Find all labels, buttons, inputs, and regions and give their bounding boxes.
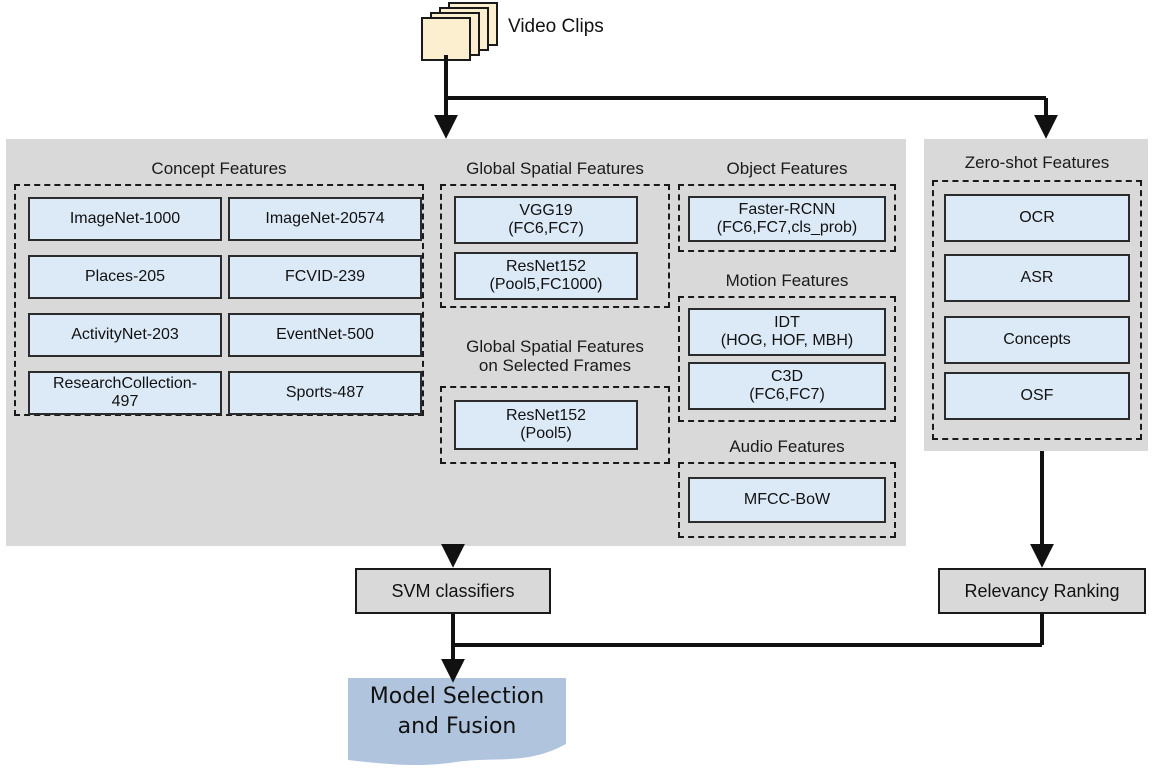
feature-label-line2: (FC6,FC7) <box>749 386 825 404</box>
feature-box-sports-487[interactable]: Sports-487 <box>228 371 422 415</box>
caption-line1: Global Spatial Features <box>466 337 644 356</box>
feature-box-faster-rcnn[interactable]: Faster-RCNN (FC6,FC7,cls_prob) <box>688 196 886 242</box>
feature-box-resnet152-pool5[interactable]: ResNet152 (Pool5) <box>454 400 638 450</box>
feature-label-line2: (HOG, HOF, MBH) <box>721 332 853 350</box>
feature-label-line2: (Pool5,FC1000) <box>490 276 603 294</box>
feature-label-line2: (Pool5) <box>520 425 572 443</box>
feature-box-imagenet-1000[interactable]: ImageNet-1000 <box>28 197 222 241</box>
object-features-caption: Object Features <box>678 156 896 180</box>
terminal-line1: Model Selection <box>370 682 544 712</box>
feature-box-places-205[interactable]: Places-205 <box>28 255 222 299</box>
terminal-line2: and Fusion <box>398 712 517 742</box>
feature-box-ocr[interactable]: OCR <box>944 194 1130 242</box>
feature-box-concepts[interactable]: Concepts <box>944 316 1130 364</box>
feature-box-eventnet-500[interactable]: EventNet-500 <box>228 313 422 357</box>
feature-label-line2: 497 <box>112 393 139 411</box>
feature-label: ASR <box>1021 269 1054 287</box>
feature-label-line1: Faster-RCNN <box>739 201 836 219</box>
relevancy-ranking-label: Relevancy Ranking <box>964 581 1119 602</box>
feature-label-line1: ResNet152 <box>506 407 586 425</box>
model-selection-and-fusion-shape[interactable]: Model Selection and Fusion <box>344 674 570 769</box>
zero-shot-features-caption: Zero-shot Features <box>932 150 1142 174</box>
feature-label-line1: C3D <box>771 368 803 386</box>
caption-line2: on Selected Frames <box>479 356 631 375</box>
feature-label: ImageNet-1000 <box>70 210 180 228</box>
feature-label-line1: ResearchCollection- <box>53 375 197 393</box>
feature-box-researchcollection-497[interactable]: ResearchCollection- 497 <box>28 371 222 415</box>
feature-label: OSF <box>1021 387 1054 405</box>
feature-label-line1: ResNet152 <box>506 258 586 276</box>
feature-label: Concepts <box>1003 331 1071 349</box>
feature-box-vgg19[interactable]: VGG19 (FC6,FC7) <box>454 196 638 244</box>
feature-label: FCVID-239 <box>285 268 365 286</box>
video-clips-label: Video Clips <box>508 16 604 38</box>
feature-label: EventNet-500 <box>276 326 374 344</box>
feature-label: MFCC-BoW <box>744 491 830 509</box>
feature-label: ActivityNet-203 <box>71 326 179 344</box>
model-selection-and-fusion-label: Model Selection and Fusion <box>344 674 570 750</box>
feature-label-line2: (FC6,FC7) <box>508 220 584 238</box>
feature-box-asr[interactable]: ASR <box>944 254 1130 302</box>
motion-features-caption: Motion Features <box>678 268 896 292</box>
video-clips-stack-icon <box>420 2 500 58</box>
feature-label-line1: VGG19 <box>519 202 572 220</box>
feature-label-line1: IDT <box>774 314 800 332</box>
feature-box-imagenet-20574[interactable]: ImageNet-20574 <box>228 197 422 241</box>
feature-box-mfcc-bow[interactable]: MFCC-BoW <box>688 477 886 523</box>
feature-box-c3d[interactable]: C3D (FC6,FC7) <box>688 362 886 410</box>
feature-label: Sports-487 <box>286 384 364 402</box>
global-spatial-selected-frames-caption: Global Spatial Features on Selected Fram… <box>438 334 672 378</box>
feature-label: Places-205 <box>85 268 165 286</box>
concept-features-caption: Concept Features <box>14 156 424 180</box>
feature-label: ImageNet-20574 <box>265 210 384 228</box>
feature-label-line2: (FC6,FC7,cls_prob) <box>717 219 857 237</box>
feature-box-idt[interactable]: IDT (HOG, HOF, MBH) <box>688 308 886 356</box>
global-spatial-features-caption: Global Spatial Features <box>440 156 670 180</box>
feature-box-resnet152-pool5-fc1000[interactable]: ResNet152 (Pool5,FC1000) <box>454 252 638 300</box>
feature-box-activitynet-203[interactable]: ActivityNet-203 <box>28 313 222 357</box>
feature-box-osf[interactable]: OSF <box>944 372 1130 420</box>
relevancy-ranking-box[interactable]: Relevancy Ranking <box>938 568 1146 614</box>
svm-classifiers-label: SVM classifiers <box>391 581 514 602</box>
feature-label: OCR <box>1019 209 1055 227</box>
feature-box-fcvid-239[interactable]: FCVID-239 <box>228 255 422 299</box>
diagram-canvas: Video Clips Concept Features ImageNet-10… <box>0 0 1154 769</box>
audio-features-caption: Audio Features <box>678 434 896 458</box>
svm-classifiers-box[interactable]: SVM classifiers <box>355 568 551 614</box>
